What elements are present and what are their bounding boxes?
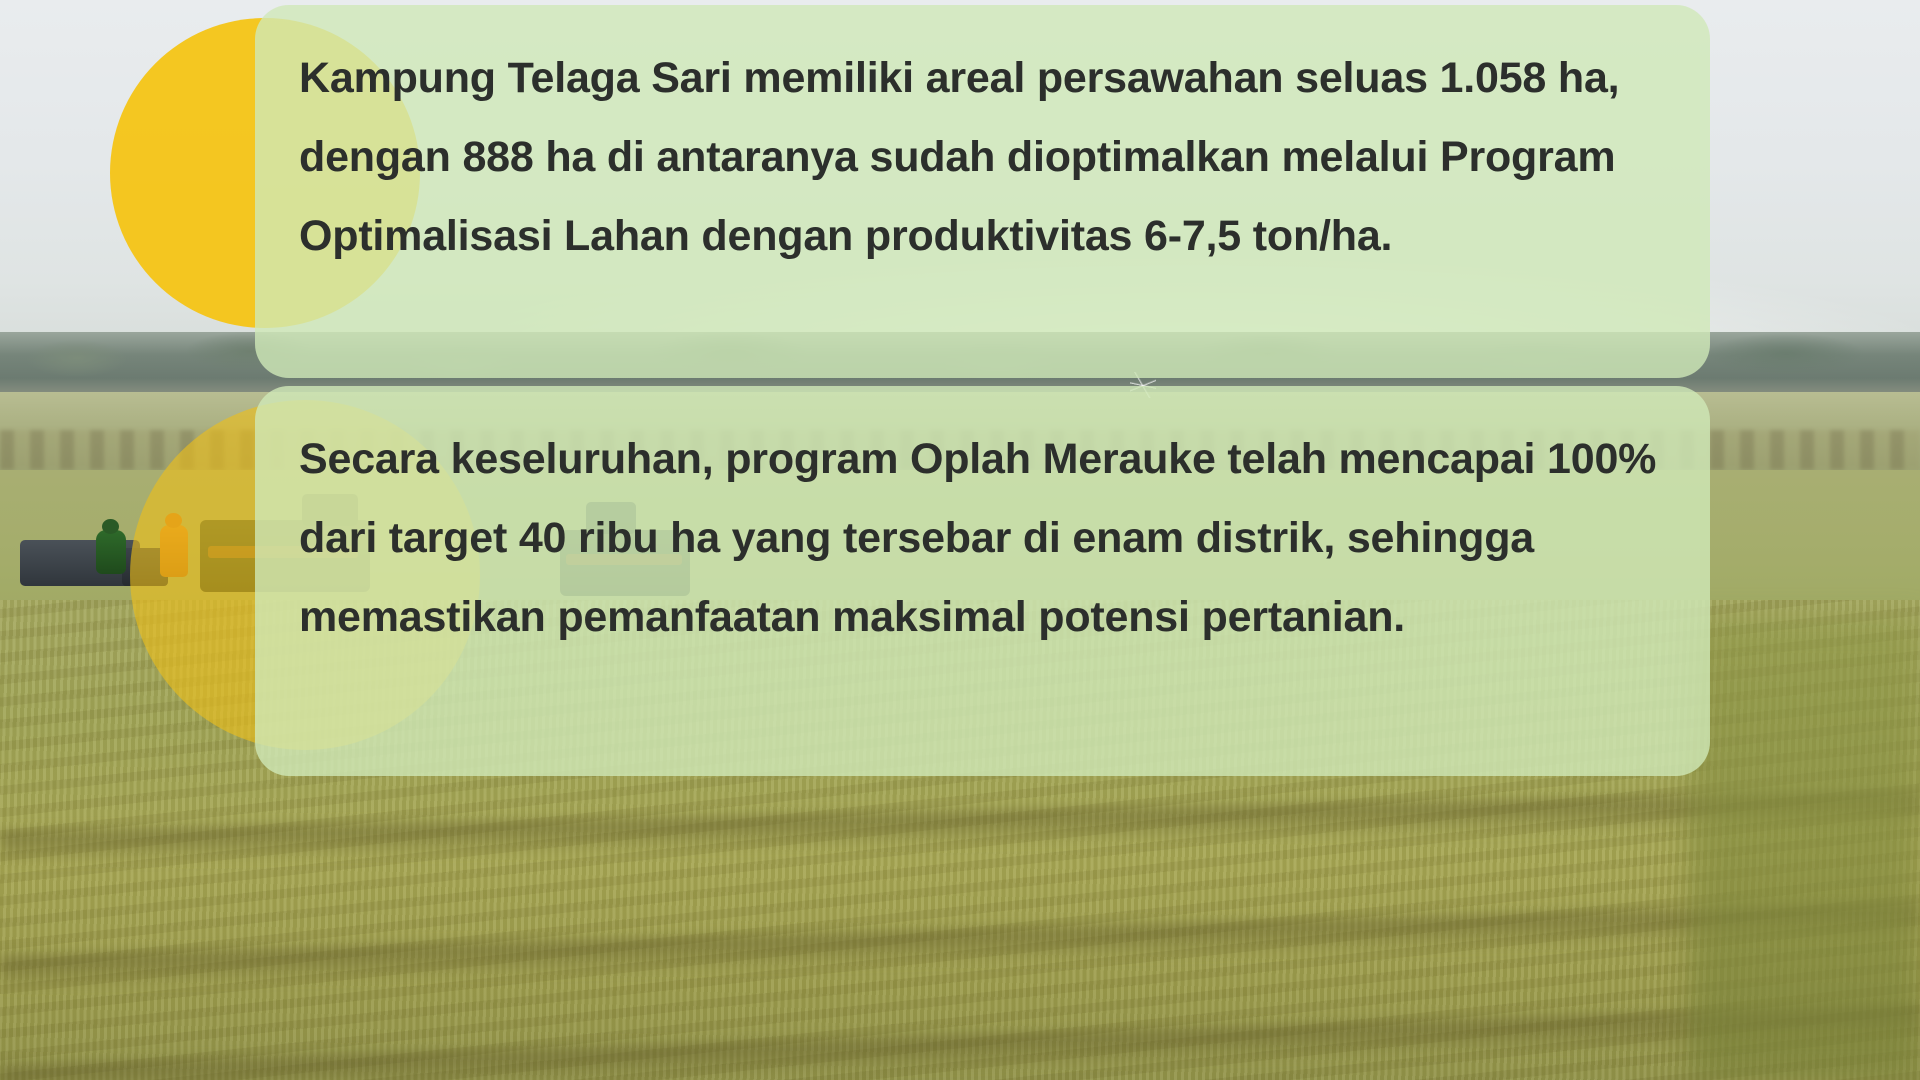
info-card-area-produktivitas: Kampung Telaga Sari memiliki areal persa… <box>255 5 1710 378</box>
card-1-text: Kampung Telaga Sari memiliki areal persa… <box>299 39 1664 276</box>
info-card-capaian-oplah: Secara keseluruhan, program Oplah Merauk… <box>255 386 1710 776</box>
farm-worker-green-icon <box>96 530 126 574</box>
photo-right-field-strip <box>1690 620 1920 1080</box>
slide-canvas: Kampung Telaga Sari memiliki areal persa… <box>0 0 1920 1080</box>
card-2-text: Secara keseluruhan, program Oplah Merauk… <box>299 420 1664 657</box>
